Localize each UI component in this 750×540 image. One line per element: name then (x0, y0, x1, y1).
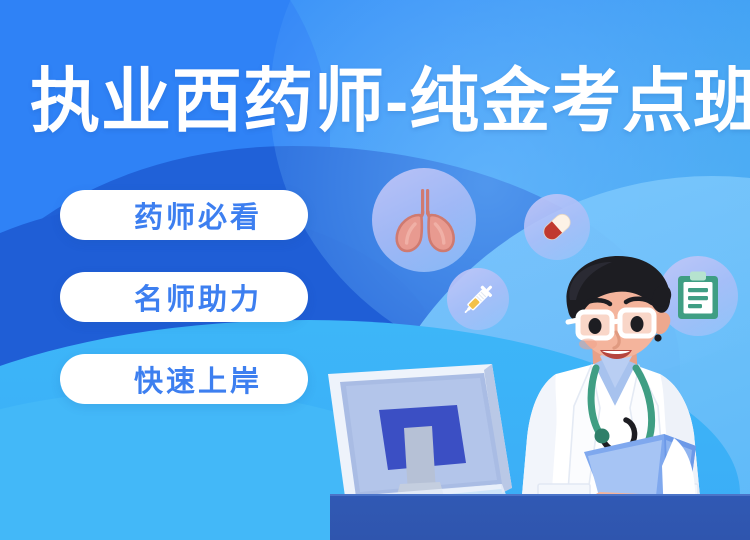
desk-surface (330, 496, 750, 540)
promo-banner: 执业西药师-纯金考点班 药师必看 名师助力 快速上岸 (0, 0, 750, 540)
illustration-scene (0, 0, 750, 540)
